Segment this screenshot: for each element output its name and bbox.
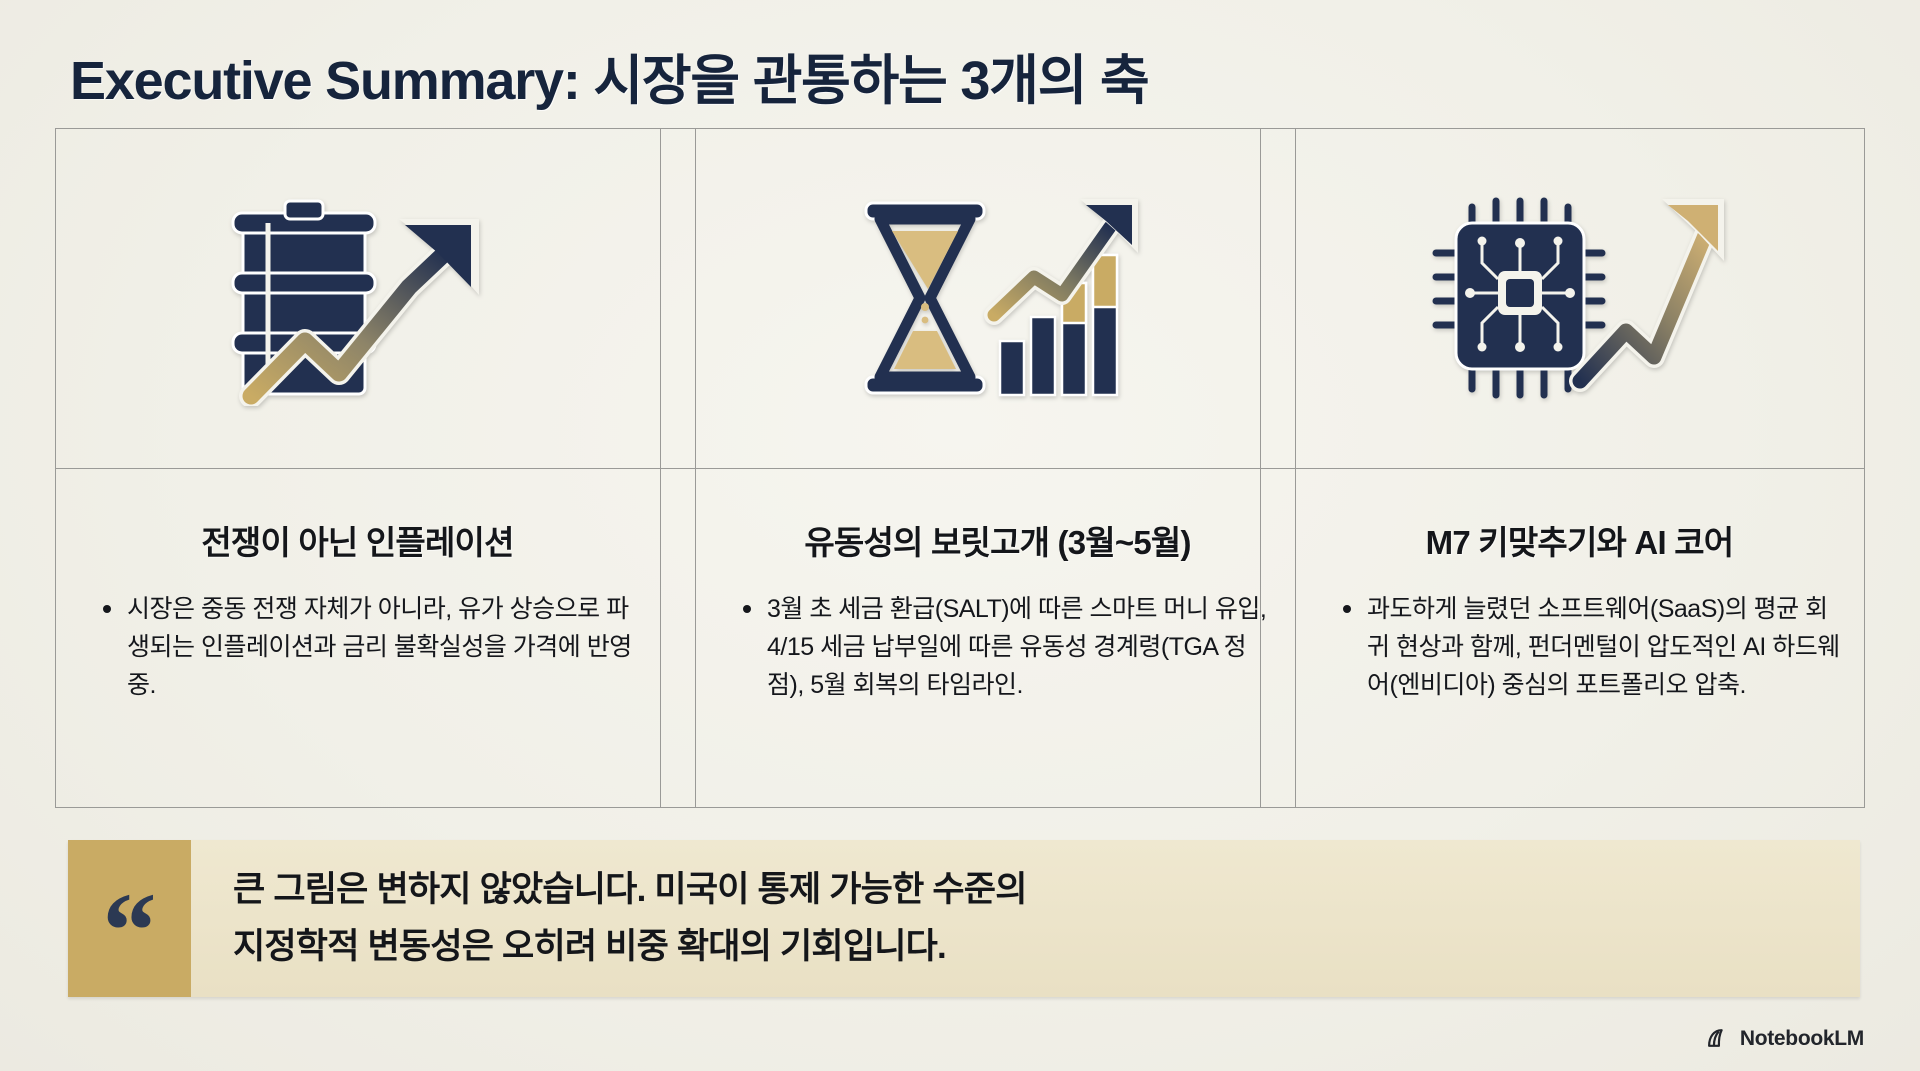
pillar-heading: M7 키맞추기와 AI 코어: [1317, 516, 1842, 564]
grid-rule-col1-right: [660, 128, 661, 808]
quote-banner: “ 큰 그림은 변하지 않았습니다. 미국이 통제 가능한 수준의 지정학적 변…: [68, 840, 1860, 997]
pillar-icon-cell: [695, 128, 1300, 468]
list-item: 과도하게 늘렸던 소프트웨어(SaaS)의 평균 회귀 현상과 함께, 펀더멘털…: [1343, 590, 1842, 704]
notebooklm-logo-icon: [1706, 1026, 1731, 1051]
footer-brand: NotebookLM: [1706, 1026, 1864, 1051]
pillar-text-cell: 전쟁이 아닌 인플레이션 시장은 중동 전쟁 자체가 아니라, 유가 상승으로 …: [55, 468, 660, 808]
slide-root: Executive Summary: 시장을 관통하는 3개의 축: [0, 0, 1920, 1071]
quote-line-1: 큰 그림은 변하지 않았습니다. 미국이 통제 가능한 수준의: [233, 862, 1826, 919]
pillar-card-inflation: 전쟁이 아닌 인플레이션 시장은 중동 전쟁 자체가 아니라, 유가 상승으로 …: [55, 128, 660, 808]
quote-mark-icon: “: [103, 905, 157, 959]
pillar-text-cell: 유동성의 보릿고개 (3월~5월) 3월 초 세금 환급(SALT)에 따른 스…: [695, 468, 1300, 808]
brand-label: NotebookLM: [1740, 1027, 1864, 1051]
oil-barrel-rising-arrow-icon: [213, 191, 503, 406]
list-item: 시장은 중동 전쟁 자체가 아니라, 유가 상승으로 파생되는 인플레이션과 금…: [103, 590, 638, 704]
pillar-heading: 유동성의 보릿고개 (3월~5월): [717, 516, 1278, 564]
three-pillar-grid: 전쟁이 아닌 인플레이션 시장은 중동 전쟁 자체가 아니라, 유가 상승으로 …: [55, 128, 1865, 808]
grid-rule-right: [1864, 128, 1865, 808]
pillar-bullet-list: 시장은 중동 전쟁 자체가 아니라, 유가 상승으로 파생되는 인플레이션과 금…: [77, 590, 638, 704]
hourglass-bar-chart-rising-arrow-icon: [848, 191, 1148, 406]
pillar-icon-cell: [55, 128, 660, 468]
pillar-card-liquidity: 유동성의 보릿고개 (3월~5월) 3월 초 세금 환급(SALT)에 따른 스…: [695, 128, 1300, 808]
quote-line-2: 지정학적 변동성은 오히려 비중 확대의 기회입니다.: [233, 919, 1826, 976]
pillar-bullet-list: 3월 초 세금 환급(SALT)에 따른 스마트 머니 유입, 4/15 세금 …: [717, 590, 1278, 704]
quote-text: 큰 그림은 변하지 않았습니다. 미국이 통제 가능한 수준의 지정학적 변동성…: [191, 840, 1860, 997]
pillar-heading: 전쟁이 아닌 인플레이션: [77, 516, 638, 564]
list-item: 3월 초 세금 환급(SALT)에 따른 스마트 머니 유입, 4/15 세금 …: [743, 590, 1278, 704]
pillar-icon-cell: [1295, 128, 1864, 468]
page-title: Executive Summary: 시장을 관통하는 3개의 축: [70, 36, 1149, 115]
pillar-bullet-list: 과도하게 늘렸던 소프트웨어(SaaS)의 평균 회귀 현상과 함께, 펀더멘털…: [1317, 590, 1842, 704]
pillar-card-ai-core: M7 키맞추기와 AI 코어 과도하게 늘렸던 소프트웨어(SaaS)의 평균 …: [1295, 128, 1864, 808]
pillar-text-cell: M7 키맞추기와 AI 코어 과도하게 늘렸던 소프트웨어(SaaS)의 평균 …: [1295, 468, 1864, 808]
ai-chip-rising-arrow-icon: [1430, 191, 1730, 406]
quote-mark-box: “: [68, 840, 191, 997]
